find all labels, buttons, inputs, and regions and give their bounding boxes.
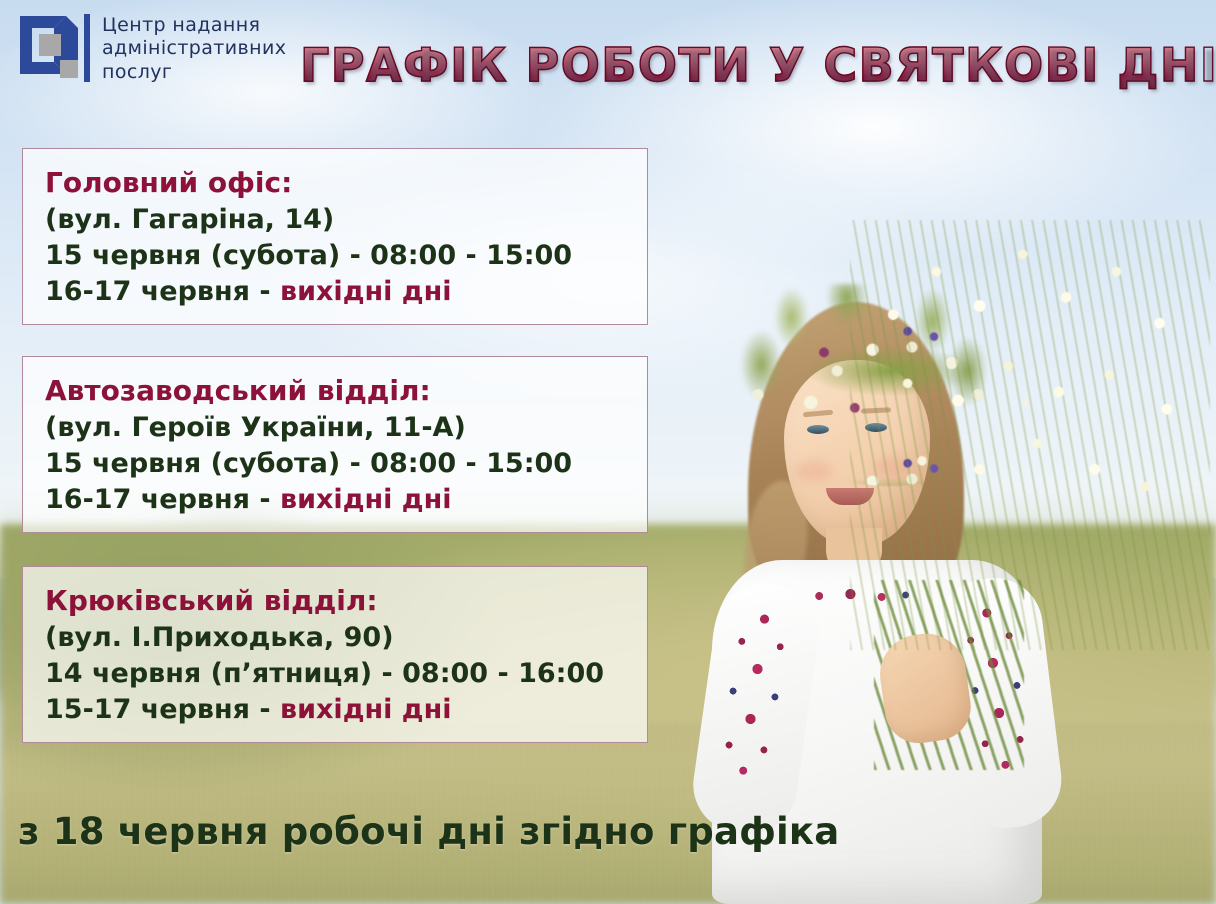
office-heading: Головний офіс: (45, 165, 647, 202)
office-dayoff-highlight: вихідні дні (280, 694, 452, 725)
office-card-kriukivskyi: Крюківський відділ: (вул. І.Приходька, 9… (22, 566, 648, 743)
office-address: (вул. Героїв України, 11-А) (45, 410, 647, 446)
office-dayoff-prefix: 16-17 червня - (45, 276, 280, 307)
office-dayoff-prefix: 15-17 червня - (45, 694, 280, 725)
logo-text: Центр надання адміністративних послуг (102, 14, 286, 84)
office-address: (вул. Гагаріна, 14) (45, 202, 647, 238)
girl-figure (660, 180, 1180, 904)
footer-note: з 18 червня робочі дні згідно графіка (18, 810, 839, 853)
office-workday: 15 червня (субота) - 08:00 - 15:00 (45, 238, 647, 274)
office-dayoff: 16-17 червня - вихідні дні (45, 482, 647, 518)
poster-root: Центр надання адміністративних послуг ГР… (0, 0, 1216, 904)
office-dayoff: 16-17 червня - вихідні дні (45, 274, 647, 310)
office-workday: 14 червня (п’ятниця) - 08:00 - 16:00 (45, 656, 647, 692)
organization-logo: Центр надання адміністративних послуг (14, 8, 286, 90)
office-heading: Крюківський відділ: (45, 583, 647, 620)
office-card-main: Головний офіс: (вул. Гагаріна, 14) 15 че… (22, 148, 648, 325)
office-dayoff-highlight: вихідні дні (280, 484, 452, 515)
office-heading: Автозаводський відділ: (45, 373, 647, 410)
daisy-bouquet (850, 220, 1210, 650)
office-dayoff: 15-17 червня - вихідні дні (45, 692, 647, 728)
office-address: (вул. І.Приходька, 90) (45, 620, 647, 656)
office-card-avtozavodskyi: Автозаводський відділ: (вул. Героїв Укра… (22, 356, 648, 533)
office-dayoff-prefix: 16-17 червня - (45, 484, 280, 515)
office-workday: 15 червня (субота) - 08:00 - 15:00 (45, 446, 647, 482)
cnap-square-logo-icon (14, 8, 92, 90)
page-title: ГРАФІК РОБОТИ У СВЯТКОВІ ДНІ (300, 38, 1200, 92)
office-dayoff-highlight: вихідні дні (280, 276, 452, 307)
